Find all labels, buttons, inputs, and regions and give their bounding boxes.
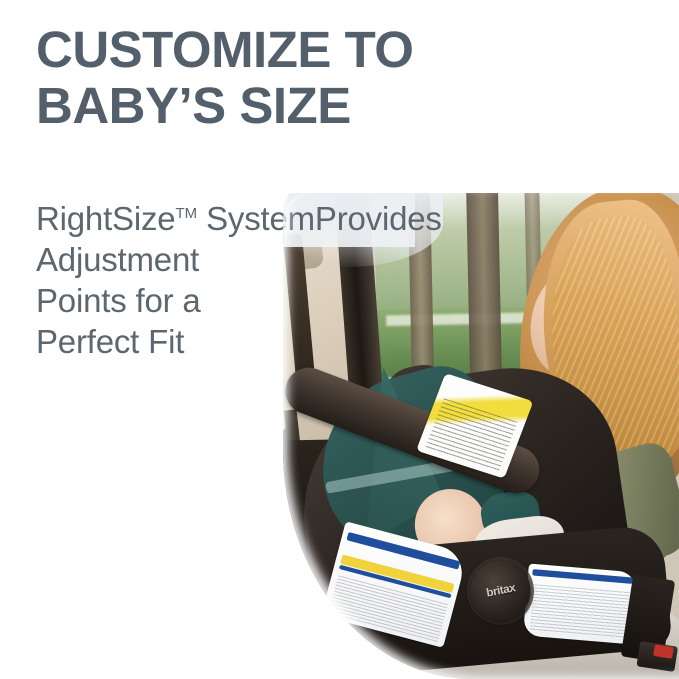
instruction-label-right [522,564,637,645]
subtitle-system-word: System [197,200,315,237]
trademark-icon: TM [175,205,197,222]
subtitle-brand-name: RightSize [36,200,175,237]
label-text-lines [529,585,629,640]
brand-logo-text: britax [485,581,516,599]
subtitle: RightSizeTM SystemProvides Adjustment Po… [36,152,506,362]
label-stripe-blue [532,570,633,584]
page-title: CUSTOMIZE TO BABY’S SIZE [36,22,506,134]
copy-block: CUSTOMIZE TO BABY’S SIZE RightSizeTM Sys… [36,22,506,362]
product-feature-card: CUSTOMIZE TO BABY’S SIZE RightSizeTM Sys… [0,0,679,679]
